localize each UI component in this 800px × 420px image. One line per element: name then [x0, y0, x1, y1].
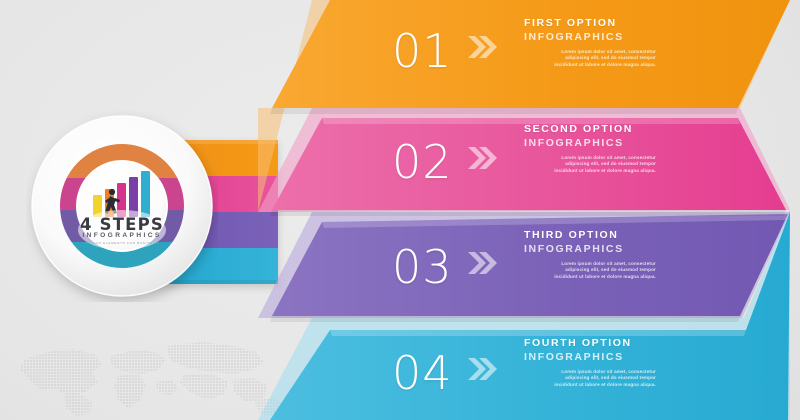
- step-panel-2[interactable]: [258, 108, 790, 216]
- infographic-stage: 01 FIRST OPTION INFOGRAPHICS Lorem ipsum…: [0, 0, 800, 420]
- logo-badge[interactable]: 4 STEPS INFOGRAPHICS DESIGN ELEMENTS FOR…: [26, 110, 218, 302]
- step-panel-3[interactable]: [258, 212, 790, 322]
- badge-graphic: [26, 110, 218, 302]
